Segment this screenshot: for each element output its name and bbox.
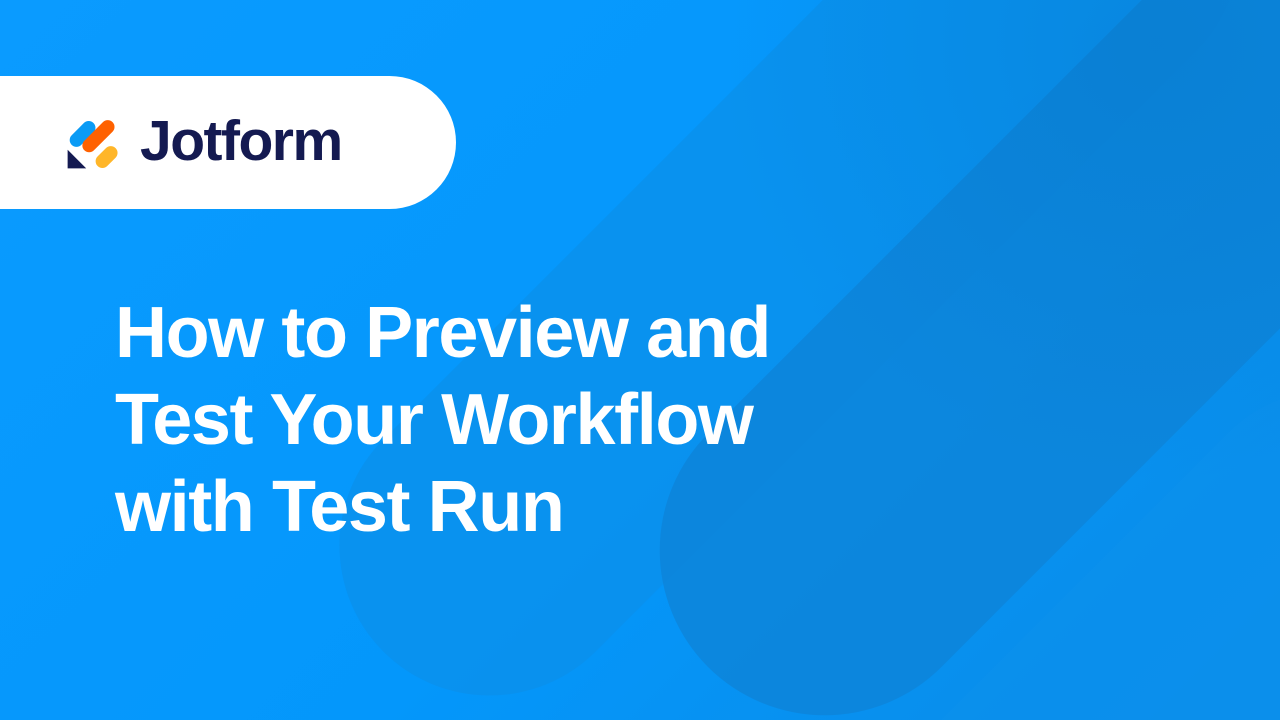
title-line-2: Test Your Workflow: [115, 377, 895, 464]
title-line-1: How to Preview and: [115, 290, 895, 377]
jotform-logo-mark: [64, 114, 122, 172]
title-card: Jotform How to Preview and Test Your Wor…: [0, 0, 1280, 720]
page-title: How to Preview and Test Your Workflow wi…: [115, 290, 895, 551]
jotform-wordmark: Jotform: [140, 113, 342, 173]
brand-logo-pill: Jotform: [0, 76, 456, 209]
title-line-3: with Test Run: [115, 464, 895, 551]
